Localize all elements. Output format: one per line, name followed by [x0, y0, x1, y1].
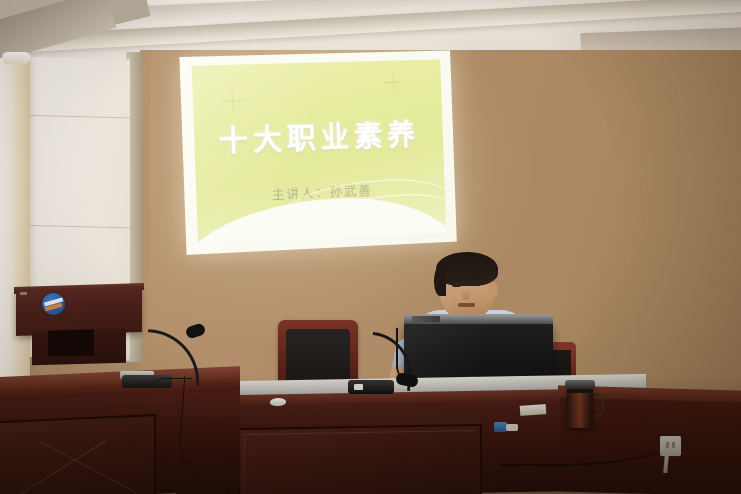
speaker-eye-left	[452, 283, 461, 287]
speaker-hair-side	[434, 266, 446, 296]
wall-panel-seam	[18, 115, 130, 119]
microphone-cable	[152, 378, 192, 393]
gooseneck-microphone-center[interactable]	[348, 330, 418, 394]
thermos-tumbler[interactable]	[565, 380, 597, 428]
tumbler-band	[567, 389, 593, 393]
podium-name-tag	[20, 292, 27, 295]
outlet-slot	[672, 442, 675, 448]
paper-sheet	[520, 404, 547, 416]
speaker-eyebrow-left	[451, 278, 462, 281]
projection-screen: 十大职业素养 主讲人：孙武善 2016年8月5日	[179, 50, 456, 254]
speaker-eyebrow-right	[471, 277, 482, 280]
outlet-slot	[666, 442, 669, 448]
conference-room-photo: 十大职业素养 主讲人：孙武善 2016年8月5日	[0, 0, 741, 494]
monitor-brand-label	[412, 316, 440, 322]
institution-emblem-icon	[42, 293, 65, 315]
table-recessed-panel-front	[0, 414, 156, 494]
speaker-eye-right	[472, 282, 481, 286]
speaker-nose	[462, 288, 470, 300]
wall-panel-seam	[18, 225, 130, 229]
speaker-ear	[488, 282, 498, 298]
curtain-rod	[2, 52, 30, 64]
window-curtain	[0, 58, 30, 388]
slide-canvas: 十大职业素养 主讲人：孙武善 2016年8月5日	[192, 59, 447, 244]
wall-power-outlet[interactable]	[660, 436, 681, 456]
microphone-capsule-icon	[185, 322, 207, 339]
slide-title: 十大职业素养	[194, 110, 444, 162]
podium-shelf-recess	[48, 329, 94, 356]
tumbler-lid	[565, 380, 595, 389]
projection-frame: 十大职业素养 主讲人：孙武善 2016年8月5日	[179, 50, 456, 254]
power-cable-front-run	[176, 376, 295, 494]
speaker-mouth	[458, 303, 475, 307]
microphone-talk-button[interactable]	[354, 384, 363, 390]
